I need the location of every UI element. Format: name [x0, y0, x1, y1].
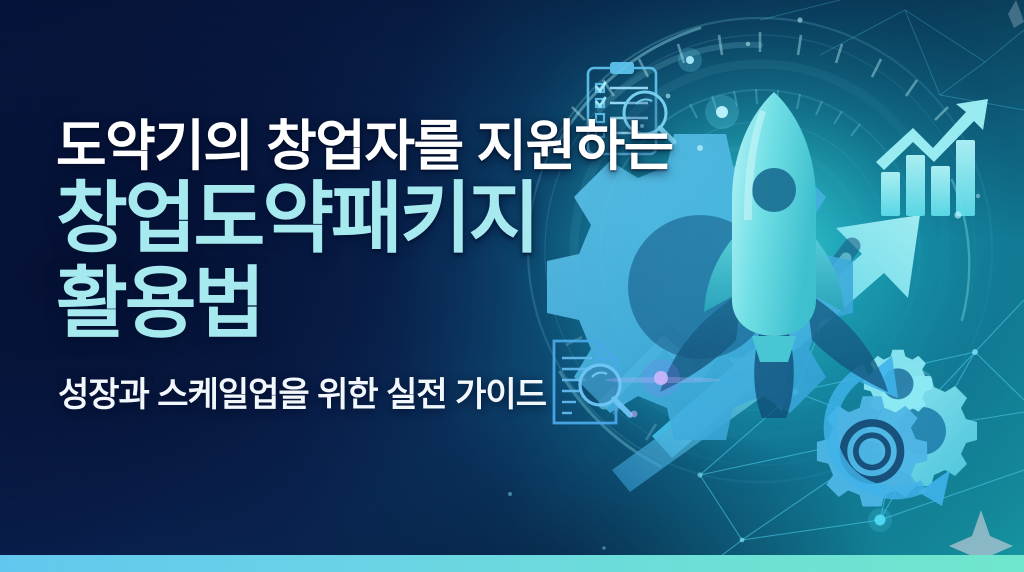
headline-line-1: 도약기의 창업자를 지원하는	[56, 118, 673, 174]
bottom-accent-strip	[0, 555, 1024, 572]
promo-banner: 도약기의 창업자를 지원하는 창업도약패키지 활용법 성장과 스케일업을 위한 …	[0, 0, 1024, 572]
headline-block: 도약기의 창업자를 지원하는 창업도약패키지 활용법 성장과 스케일업을 위한 …	[56, 118, 673, 416]
headline-line-2: 창업도약패키지	[56, 180, 673, 256]
headline-line-3: 활용법	[56, 265, 673, 341]
banner-subtitle: 성장과 스케일업을 위한 실전 가이드	[58, 367, 673, 416]
